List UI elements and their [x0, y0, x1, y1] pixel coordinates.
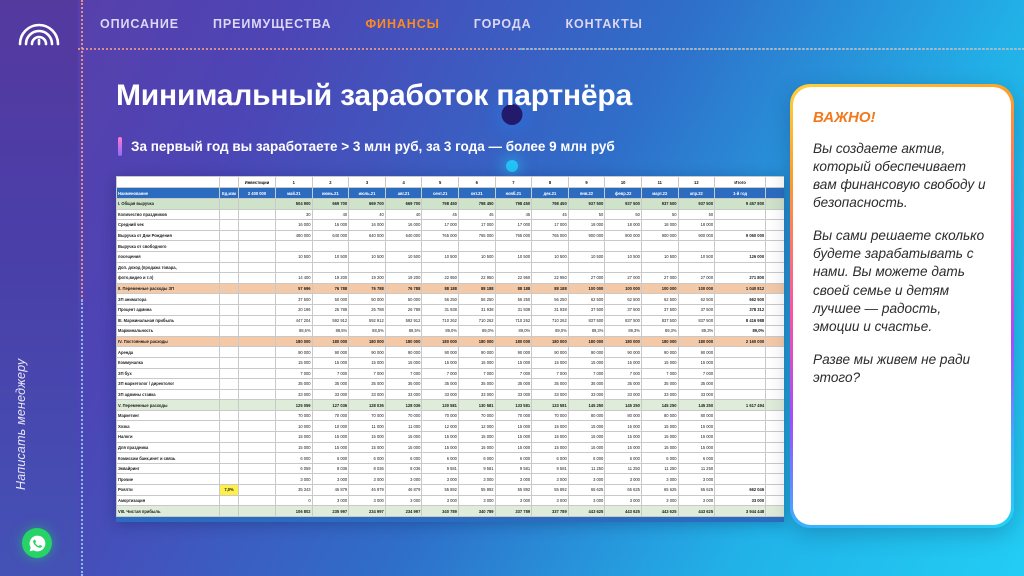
row-25-month-6[interactable]: 9 581 [458, 463, 495, 474]
row-10-month-1[interactable]: 20 196 [276, 304, 313, 315]
table-row[interactable]: Маржинальность88,6%88,5%88,5%88,5%89,0%8… [117, 326, 785, 337]
row-7-month-10[interactable]: 27 000 [605, 273, 642, 284]
header-month-label-1[interactable]: май.21 [276, 188, 313, 199]
row-4-month-10[interactable] [605, 241, 642, 252]
nav-item-goroda[interactable]: ГОРОДА [474, 17, 532, 31]
row-10-month-9[interactable]: 37 500 [568, 304, 605, 315]
row-12-month-4[interactable]: 88,5% [385, 326, 422, 337]
row-29-month-11[interactable]: 443 625 [641, 506, 678, 517]
row-29-month-2[interactable]: 235 997 [312, 506, 349, 517]
row-22-month-3[interactable]: 15 000 [349, 432, 386, 443]
row-14-month-9[interactable]: 90 000 [568, 347, 605, 358]
row-17-month-8[interactable]: 35 000 [532, 379, 569, 390]
row-label-16[interactable]: ЗП бух [117, 368, 220, 379]
row-6-month-2[interactable] [312, 262, 349, 273]
row-9-month-7[interactable]: 56 250 [495, 294, 532, 305]
row-2-month-10[interactable]: 18 000 [605, 220, 642, 231]
row-3-month-3[interactable]: 640 000 [349, 230, 386, 241]
row-26-month-2[interactable]: 3 000 [312, 474, 349, 485]
row-20-month-5[interactable]: 70 000 [422, 410, 459, 421]
row-6-month-6[interactable] [458, 262, 495, 273]
row-23-total-1[interactable] [766, 442, 784, 453]
row-label-6[interactable]: Доп. доход (продажа товара, [117, 262, 220, 273]
row-13-total-1[interactable]: 2 160 000 [766, 336, 784, 347]
row-9-month-4[interactable]: 50 000 [385, 294, 422, 305]
row-28-month-9[interactable]: 3 000 [568, 495, 605, 506]
row-26-total-1[interactable] [766, 474, 784, 485]
header-month-number-3[interactable]: 3 [349, 177, 386, 188]
row-11-month-9[interactable]: 837 500 [568, 315, 605, 326]
row-16-total-1[interactable] [766, 368, 784, 379]
row-14-month-10[interactable]: 90 000 [605, 347, 642, 358]
row-15-month-1[interactable]: 15 000 [276, 357, 313, 368]
row-4-month-6[interactable] [458, 241, 495, 252]
row-5-month-8[interactable]: 10 500 [532, 251, 569, 262]
row-27-total-1[interactable]: 662 046 [766, 485, 784, 496]
row-invest-4[interactable] [239, 241, 276, 252]
row-11-total-1[interactable]: 8 416 988 [766, 315, 784, 326]
header-total-bottom-1[interactable]: 2-й год [766, 188, 784, 199]
row-21-total-0[interactable] [715, 421, 766, 432]
row-invest-6[interactable] [239, 262, 276, 273]
row-13-month-10[interactable]: 180 000 [605, 336, 642, 347]
row-unit-12[interactable] [220, 326, 239, 337]
row-11-month-12[interactable]: 837 500 [678, 315, 715, 326]
row-6-total-0[interactable] [715, 262, 766, 273]
row-unit-5[interactable] [220, 251, 239, 262]
row-12-month-3[interactable]: 88,5% [349, 326, 386, 337]
row-invest-29[interactable] [239, 506, 276, 517]
row-0-month-3[interactable]: 669 700 [349, 199, 386, 210]
row-22-month-9[interactable]: 15 000 [568, 432, 605, 443]
row-28-month-11[interactable]: 3 000 [641, 495, 678, 506]
row-7-month-5[interactable]: 22 950 [422, 273, 459, 284]
row-14-month-12[interactable]: 90 000 [678, 347, 715, 358]
row-0-month-4[interactable]: 669 700 [385, 199, 422, 210]
row-29-month-6[interactable]: 340 789 [458, 506, 495, 517]
row-6-month-7[interactable] [495, 262, 532, 273]
row-24-total-0[interactable] [715, 453, 766, 464]
table-row[interactable]: посещения10 50010 50010 50010 50010 5001… [117, 251, 785, 262]
row-22-total-0[interactable] [715, 432, 766, 443]
row-unit-6[interactable] [220, 262, 239, 273]
row-28-month-8[interactable]: 3 000 [532, 495, 569, 506]
row-3-month-2[interactable]: 640 000 [312, 230, 349, 241]
row-15-month-5[interactable]: 15 000 [422, 357, 459, 368]
row-7-total-1[interactable]: 271 800 [766, 273, 784, 284]
row-26-month-11[interactable]: 3 000 [641, 474, 678, 485]
row-invest-5[interactable] [239, 251, 276, 262]
row-13-month-2[interactable]: 180 000 [312, 336, 349, 347]
row-11-month-4[interactable]: 592 912 [385, 315, 422, 326]
row-22-month-1[interactable]: 15 000 [276, 432, 313, 443]
row-23-month-4[interactable]: 15 000 [385, 442, 422, 453]
row-29-month-3[interactable]: 234 997 [349, 506, 386, 517]
row-17-total-1[interactable] [766, 379, 784, 390]
row-25-month-8[interactable]: 9 581 [532, 463, 569, 474]
row-11-month-6[interactable]: 710 262 [458, 315, 495, 326]
row-24-month-12[interactable]: 6 000 [678, 453, 715, 464]
row-label-21[interactable]: Хозка [117, 421, 220, 432]
header-month-number-2[interactable]: 2 [312, 177, 349, 188]
row-unit-28[interactable] [220, 495, 239, 506]
row-21-month-9[interactable]: 15 000 [568, 421, 605, 432]
row-10-month-10[interactable]: 37 500 [605, 304, 642, 315]
row-0-total-0[interactable]: 9 457 800 [715, 199, 766, 210]
row-unit-14[interactable] [220, 347, 239, 358]
row-unit-9[interactable] [220, 294, 239, 305]
row-16-month-5[interactable]: 7 000 [422, 368, 459, 379]
row-label-10[interactable]: Процент админа [117, 304, 220, 315]
row-9-month-5[interactable]: 56 250 [422, 294, 459, 305]
row-15-month-4[interactable]: 15 000 [385, 357, 422, 368]
row-26-total-0[interactable] [715, 474, 766, 485]
row-18-total-1[interactable] [766, 389, 784, 400]
row-13-month-12[interactable]: 180 000 [678, 336, 715, 347]
row-20-month-10[interactable]: 80 000 [605, 410, 642, 421]
row-10-month-7[interactable]: 31 938 [495, 304, 532, 315]
row-6-month-9[interactable] [568, 262, 605, 273]
row-invest-1[interactable] [239, 209, 276, 220]
row-26-month-9[interactable]: 3 000 [568, 474, 605, 485]
row-6-month-5[interactable] [422, 262, 459, 273]
row-3-month-10[interactable]: 900 000 [605, 230, 642, 241]
table-row[interactable]: II. Переменные расходы ЗП57 69676 78876 … [117, 283, 785, 294]
row-15-month-12[interactable]: 15 000 [678, 357, 715, 368]
header-month-label-9[interactable]: янв.22 [568, 188, 605, 199]
row-20-total-0[interactable] [715, 410, 766, 421]
header-spacer[interactable] [117, 177, 220, 188]
row-13-month-11[interactable]: 180 000 [641, 336, 678, 347]
header-month-label-10[interactable]: февр.22 [605, 188, 642, 199]
row-10-month-6[interactable]: 31 938 [458, 304, 495, 315]
row-4-month-11[interactable] [641, 241, 678, 252]
row-10-month-5[interactable]: 31 938 [422, 304, 459, 315]
row-label-25[interactable]: Эквайринг [117, 463, 220, 474]
row-2-month-6[interactable]: 17 000 [458, 220, 495, 231]
row-8-month-7[interactable]: 88 188 [495, 283, 532, 294]
row-1-month-6[interactable]: 45 [458, 209, 495, 220]
header-month-label-3[interactable]: июль.21 [349, 188, 386, 199]
row-label-22[interactable]: Налоги [117, 432, 220, 443]
row-15-month-3[interactable]: 15 000 [349, 357, 386, 368]
row-9-month-10[interactable]: 62 500 [605, 294, 642, 305]
table-row[interactable]: Средний чек16 00016 00016 00016 00017 00… [117, 220, 785, 231]
row-7-month-1[interactable]: 14 400 [276, 273, 313, 284]
row-0-month-7[interactable]: 798 450 [495, 199, 532, 210]
row-4-month-5[interactable] [422, 241, 459, 252]
row-5-month-9[interactable]: 10 500 [568, 251, 605, 262]
row-14-month-7[interactable]: 90 000 [495, 347, 532, 358]
row-19-month-9[interactable]: 145 250 [568, 400, 605, 411]
row-27-month-3[interactable]: 46 879 [349, 485, 386, 496]
row-27-total-0[interactable]: 662 046 [715, 485, 766, 496]
row-23-month-2[interactable]: 15 000 [312, 442, 349, 453]
row-unit-11[interactable] [220, 315, 239, 326]
row-12-total-1[interactable]: 89,0% [766, 326, 784, 337]
row-23-month-8[interactable]: 15 000 [532, 442, 569, 453]
row-25-month-1[interactable]: 6 059 [276, 463, 313, 474]
row-17-month-3[interactable]: 35 000 [349, 379, 386, 390]
row-18-month-2[interactable]: 33 000 [312, 389, 349, 400]
row-25-total-1[interactable] [766, 463, 784, 474]
row-13-month-8[interactable]: 180 000 [532, 336, 569, 347]
row-invest-0[interactable] [239, 199, 276, 210]
row-8-month-12[interactable]: 100 000 [678, 283, 715, 294]
row-label-8[interactable]: II. Переменные расходы ЗП [117, 283, 220, 294]
row-1-month-5[interactable]: 45 [422, 209, 459, 220]
row-5-month-6[interactable]: 10 500 [458, 251, 495, 262]
row-11-total-0[interactable]: 8 416 988 [715, 315, 766, 326]
table-row[interactable]: ЗП аниматора37 50050 00050 00050 00056 2… [117, 294, 785, 305]
row-25-month-2[interactable]: 8 036 [312, 463, 349, 474]
row-26-month-7[interactable]: 3 000 [495, 474, 532, 485]
row-18-month-5[interactable]: 33 000 [422, 389, 459, 400]
row-8-month-3[interactable]: 76 788 [349, 283, 386, 294]
row-1-total-1[interactable] [766, 209, 784, 220]
row-16-month-9[interactable]: 7 000 [568, 368, 605, 379]
row-26-month-6[interactable]: 3 000 [458, 474, 495, 485]
row-unit-18[interactable] [220, 389, 239, 400]
row-11-month-7[interactable]: 710 262 [495, 315, 532, 326]
row-17-month-5[interactable]: 35 000 [422, 379, 459, 390]
row-invest-7[interactable] [239, 273, 276, 284]
row-22-month-5[interactable]: 15 000 [422, 432, 459, 443]
row-13-month-6[interactable]: 180 000 [458, 336, 495, 347]
row-26-month-12[interactable]: 3 000 [678, 474, 715, 485]
row-5-month-2[interactable]: 10 500 [312, 251, 349, 262]
row-2-month-11[interactable]: 18 000 [641, 220, 678, 231]
row-14-month-2[interactable]: 90 000 [312, 347, 349, 358]
row-20-month-9[interactable]: 80 000 [568, 410, 605, 421]
header-month-number-9[interactable]: 9 [568, 177, 605, 188]
row-7-total-0[interactable]: 271 800 [715, 273, 766, 284]
row-20-month-1[interactable]: 70 000 [276, 410, 313, 421]
row-24-month-3[interactable]: 6 000 [349, 453, 386, 464]
row-label-17[interactable]: ЗП маркетолог / директолог [117, 379, 220, 390]
row-10-month-11[interactable]: 37 500 [641, 304, 678, 315]
row-23-total-0[interactable] [715, 442, 766, 453]
row-7-month-9[interactable]: 27 000 [568, 273, 605, 284]
row-invest-8[interactable] [239, 283, 276, 294]
row-8-month-4[interactable]: 76 788 [385, 283, 422, 294]
row-15-month-10[interactable]: 15 000 [605, 357, 642, 368]
row-1-month-8[interactable]: 45 [532, 209, 569, 220]
header-month-label-7[interactable]: нояб.21 [495, 188, 532, 199]
table-row[interactable]: фото,видео и т.п)14 40019 20019 20019 20… [117, 273, 785, 284]
row-label-13[interactable]: IV. Постоянные расходы [117, 336, 220, 347]
row-invest-3[interactable] [239, 230, 276, 241]
row-22-month-2[interactable]: 15 000 [312, 432, 349, 443]
nav-item-kontakty[interactable]: КОНТАКТЫ [566, 17, 643, 31]
table-row[interactable]: Роялти7,0%35 34346 87946 87946 87955 892… [117, 485, 785, 496]
row-18-month-4[interactable]: 33 000 [385, 389, 422, 400]
row-28-total-1[interactable]: 33 000 [766, 495, 784, 506]
row-20-month-7[interactable]: 70 000 [495, 410, 532, 421]
row-24-month-11[interactable]: 6 000 [641, 453, 678, 464]
row-3-total-0[interactable]: 9 060 000 [715, 230, 766, 241]
row-11-month-11[interactable]: 837 500 [641, 315, 678, 326]
row-13-month-9[interactable]: 180 000 [568, 336, 605, 347]
row-19-month-10[interactable]: 145 250 [605, 400, 642, 411]
row-8-total-1[interactable]: 1 040 812 [766, 283, 784, 294]
row-6-month-1[interactable] [276, 262, 313, 273]
row-24-month-2[interactable]: 6 000 [312, 453, 349, 464]
header-invest[interactable]: Инвестиции [239, 177, 276, 188]
row-11-month-8[interactable]: 710 262 [532, 315, 569, 326]
row-18-month-3[interactable]: 33 000 [349, 389, 386, 400]
row-12-month-1[interactable]: 88,6% [276, 326, 313, 337]
row-14-month-3[interactable]: 90 000 [349, 347, 386, 358]
row-23-month-6[interactable]: 15 000 [458, 442, 495, 453]
header-month-label-5[interactable]: сент.21 [422, 188, 459, 199]
row-0-month-8[interactable]: 798 450 [532, 199, 569, 210]
row-28-month-7[interactable]: 3 000 [495, 495, 532, 506]
row-24-month-6[interactable]: 6 000 [458, 453, 495, 464]
row-8-month-1[interactable]: 57 696 [276, 283, 313, 294]
row-1-month-3[interactable]: 40 [349, 209, 386, 220]
row-7-month-12[interactable]: 27 000 [678, 273, 715, 284]
row-6-month-11[interactable] [641, 262, 678, 273]
row-7-month-6[interactable]: 22 950 [458, 273, 495, 284]
row-29-month-8[interactable]: 337 789 [532, 506, 569, 517]
row-17-month-1[interactable]: 35 000 [276, 379, 313, 390]
row-18-month-6[interactable]: 33 000 [458, 389, 495, 400]
row-label-29[interactable]: VIII. Чистая прибыль [117, 506, 220, 517]
table-row[interactable]: Выручка от Дни Рождения480 000640 000640… [117, 230, 785, 241]
row-invest-21[interactable] [239, 421, 276, 432]
row-22-month-6[interactable]: 15 000 [458, 432, 495, 443]
row-unit-20[interactable] [220, 410, 239, 421]
row-16-month-10[interactable]: 7 000 [605, 368, 642, 379]
row-25-month-4[interactable]: 8 036 [385, 463, 422, 474]
row-label-9[interactable]: ЗП аниматора [117, 294, 220, 305]
row-8-month-5[interactable]: 88 188 [422, 283, 459, 294]
row-26-month-8[interactable]: 3 000 [532, 474, 569, 485]
row-0-month-12[interactable]: 937 500 [678, 199, 715, 210]
row-21-month-10[interactable]: 15 000 [605, 421, 642, 432]
row-22-month-7[interactable]: 15 000 [495, 432, 532, 443]
row-4-month-7[interactable] [495, 241, 532, 252]
row-19-month-1[interactable]: 125 059 [276, 400, 313, 411]
nav-item-finansy[interactable]: ФИНАНСЫ [365, 17, 439, 31]
row-1-month-11[interactable]: 50 [641, 209, 678, 220]
row-unit-13[interactable] [220, 336, 239, 347]
row-16-month-11[interactable]: 7 000 [641, 368, 678, 379]
row-9-month-1[interactable]: 37 500 [276, 294, 313, 305]
row-20-month-2[interactable]: 70 000 [312, 410, 349, 421]
row-14-month-1[interactable]: 90 000 [276, 347, 313, 358]
row-25-month-3[interactable]: 8 036 [349, 463, 386, 474]
table-row[interactable]: Аренда90 00090 00090 00090 00090 00090 0… [117, 347, 785, 358]
header-month-label-8[interactable]: дек.21 [532, 188, 569, 199]
row-3-month-7[interactable]: 765 000 [495, 230, 532, 241]
row-label-14[interactable]: Аренда [117, 347, 220, 358]
row-25-month-12[interactable]: 11 250 [678, 463, 715, 474]
row-27-month-12[interactable]: 65 625 [678, 485, 715, 496]
row-16-month-12[interactable]: 7 000 [678, 368, 715, 379]
header-month-number-12[interactable]: 12 [678, 177, 715, 188]
row-label-26[interactable]: Прочие [117, 474, 220, 485]
row-0-total-1[interactable]: 9 457 800 [766, 199, 784, 210]
row-1-month-12[interactable]: 50 [678, 209, 715, 220]
row-label-3[interactable]: Выручка от Дни Рождения [117, 230, 220, 241]
row-19-month-8[interactable]: 133 581 [532, 400, 569, 411]
row-17-month-6[interactable]: 35 000 [458, 379, 495, 390]
row-12-month-2[interactable]: 88,5% [312, 326, 349, 337]
row-23-month-1[interactable]: 15 000 [276, 442, 313, 453]
row-17-total-0[interactable] [715, 379, 766, 390]
row-5-month-1[interactable]: 10 500 [276, 251, 313, 262]
row-label-7[interactable]: фото,видео и т.п) [117, 273, 220, 284]
row-27-month-7[interactable]: 55 892 [495, 485, 532, 496]
row-21-month-8[interactable]: 15 000 [532, 421, 569, 432]
row-18-month-10[interactable]: 33 000 [605, 389, 642, 400]
row-0-month-10[interactable]: 937 500 [605, 199, 642, 210]
row-unit-19[interactable] [220, 400, 239, 411]
row-2-month-3[interactable]: 16 000 [349, 220, 386, 231]
row-7-month-8[interactable]: 22 950 [532, 273, 569, 284]
table-row[interactable]: Комиссии банк,инет и связь6 0006 0006 00… [117, 453, 785, 464]
row-2-month-7[interactable]: 17 000 [495, 220, 532, 231]
row-21-month-2[interactable]: 10 000 [312, 421, 349, 432]
row-5-month-11[interactable]: 10 500 [641, 251, 678, 262]
header-month-number-10[interactable]: 10 [605, 177, 642, 188]
row-21-month-7[interactable]: 15 000 [495, 421, 532, 432]
row-label-11[interactable]: III. Маржинальная прибыль [117, 315, 220, 326]
row-4-total-0[interactable] [715, 241, 766, 252]
row-20-total-1[interactable] [766, 410, 784, 421]
row-9-month-9[interactable]: 62 500 [568, 294, 605, 305]
row-19-month-11[interactable]: 145 250 [641, 400, 678, 411]
row-17-month-11[interactable]: 35 000 [641, 379, 678, 390]
row-9-month-6[interactable]: 56 250 [458, 294, 495, 305]
row-21-month-4[interactable]: 11 000 [385, 421, 422, 432]
row-14-month-4[interactable]: 90 000 [385, 347, 422, 358]
row-28-month-6[interactable]: 3 000 [458, 495, 495, 506]
row-label-12[interactable]: Маржинальность [117, 326, 220, 337]
row-label-23[interactable]: Для праздника [117, 442, 220, 453]
row-18-month-9[interactable]: 33 000 [568, 389, 605, 400]
header-month-number-7[interactable]: 7 [495, 177, 532, 188]
row-25-month-9[interactable]: 11 250 [568, 463, 605, 474]
header-month-label-12[interactable]: апр.22 [678, 188, 715, 199]
row-18-month-8[interactable]: 33 000 [532, 389, 569, 400]
row-25-month-5[interactable]: 9 581 [422, 463, 459, 474]
row-26-month-5[interactable]: 3 000 [422, 474, 459, 485]
row-6-month-12[interactable] [678, 262, 715, 273]
row-0-month-6[interactable]: 798 450 [458, 199, 495, 210]
row-17-month-2[interactable]: 35 000 [312, 379, 349, 390]
contact-manager-label[interactable]: Написать менеджеру [14, 359, 28, 490]
row-8-month-11[interactable]: 100 000 [641, 283, 678, 294]
table-row[interactable]: ЗП маркетолог / директолог35 00035 00035… [117, 379, 785, 390]
row-26-month-4[interactable]: 3 000 [385, 474, 422, 485]
row-10-month-12[interactable]: 37 500 [678, 304, 715, 315]
row-unit-10[interactable] [220, 304, 239, 315]
row-14-month-11[interactable]: 90 000 [641, 347, 678, 358]
row-15-total-0[interactable] [715, 357, 766, 368]
row-2-month-9[interactable]: 18 000 [568, 220, 605, 231]
table-row[interactable]: Коммуналка15 00015 00015 00015 00015 000… [117, 357, 785, 368]
row-1-total-0[interactable] [715, 209, 766, 220]
row-27-month-10[interactable]: 65 625 [605, 485, 642, 496]
row-29-month-9[interactable]: 443 625 [568, 506, 605, 517]
row-invest-23[interactable] [239, 442, 276, 453]
row-28-month-1[interactable]: 0 [276, 495, 313, 506]
row-unit-22[interactable] [220, 432, 239, 443]
row-18-month-1[interactable]: 33 000 [276, 389, 313, 400]
